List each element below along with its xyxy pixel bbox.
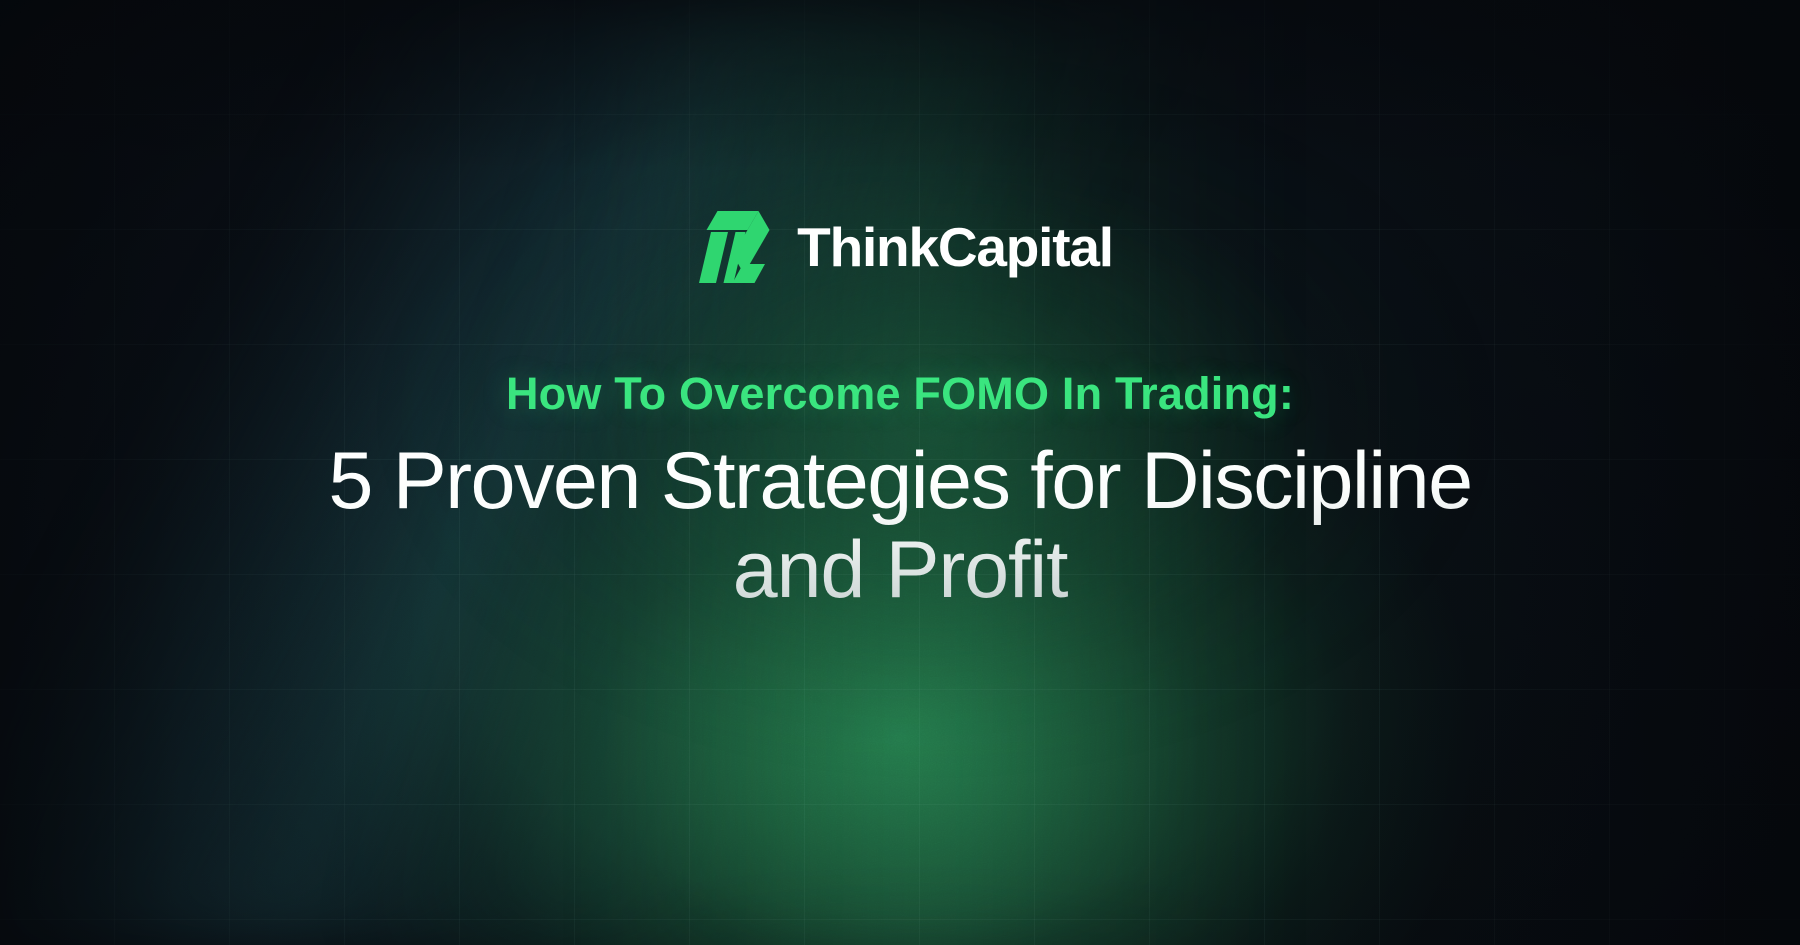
article-title: 5 Proven Strategies for Discipline and P…: [190, 437, 1610, 614]
article-eyebrow: How To Overcome FOMO In Trading:: [506, 370, 1294, 417]
article-title-line-1: 5 Proven Strategies for Discipline: [190, 437, 1610, 525]
brand-logo-lockup[interactable]: ThinkCapital: [687, 208, 1113, 286]
hero-content: ThinkCapital How To Overcome FOMO In Tra…: [0, 0, 1800, 945]
thinkcapital-arrow-mark-icon: [687, 211, 771, 283]
article-title-line-2: and Profit: [190, 526, 1610, 614]
hero-banner: ThinkCapital How To Overcome FOMO In Tra…: [0, 0, 1800, 945]
brand-wordmark: ThinkCapital: [797, 220, 1113, 275]
